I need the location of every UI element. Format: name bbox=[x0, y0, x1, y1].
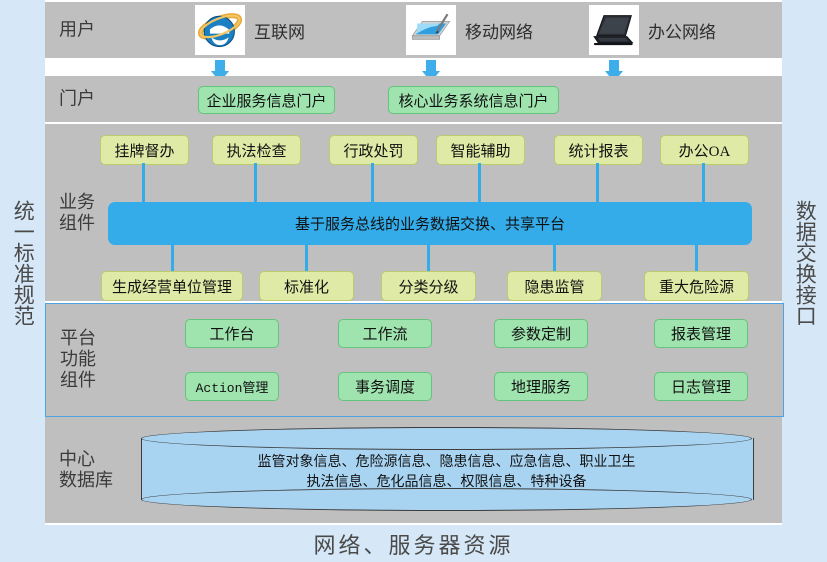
user-channel-mobile-label: 移动网络 bbox=[465, 18, 533, 43]
layer-central-database: 中心 数据库 监管对象信息、危险源信息、隐患信息、应急信息、职业卫生 执法信息、… bbox=[45, 417, 782, 523]
diagram-main-column: 用户 互联网 bbox=[45, 0, 782, 525]
connector-bottom-2 bbox=[305, 245, 308, 271]
platform-component-label: 工作流 bbox=[362, 323, 407, 344]
sidebar-unified-standard: 统一标准规范 bbox=[0, 0, 45, 525]
portal-enterprise-service[interactable]: 企业服务信息门户 bbox=[198, 86, 335, 114]
biz-component-label: 分类分级 bbox=[398, 276, 458, 297]
biz-component-label: 统计报表 bbox=[568, 140, 628, 161]
laptop-icon bbox=[589, 5, 639, 55]
biz-component-label: 办公OA bbox=[679, 140, 731, 161]
platform-component-geographic-service[interactable]: 地理服务 bbox=[494, 372, 588, 401]
layer-platform-label: 平台 功能 组件 bbox=[60, 328, 96, 392]
biz-component-label: 智能辅助 bbox=[450, 140, 510, 161]
biz-component-oa[interactable]: 办公OA bbox=[660, 135, 749, 165]
platform-component-action-management[interactable]: Action管理 bbox=[185, 372, 279, 401]
connector-bottom-1 bbox=[171, 245, 174, 271]
connector-top-5 bbox=[596, 163, 599, 202]
user-channel-internet-label: 互联网 bbox=[254, 18, 305, 43]
database-cylinder[interactable]: 监管对象信息、危险源信息、隐患信息、应急信息、职业卫生 执法信息、危化品信息、权… bbox=[141, 427, 752, 511]
biz-component-fenleifenji[interactable]: 分类分级 bbox=[381, 271, 476, 301]
platform-component-parameter-customization[interactable]: 参数定制 bbox=[494, 319, 588, 348]
service-bus-platform[interactable]: 基于服务总线的业务数据交换、共享平台 bbox=[108, 202, 752, 245]
layer-business-components: 业务 组件 挂牌督办 执法检查 行政处罚 智能辅助 统计报表 办公OA bbox=[45, 124, 782, 301]
portal-enterprise-service-label: 企业服务信息门户 bbox=[206, 90, 326, 111]
biz-component-label: 隐患监管 bbox=[524, 276, 584, 297]
service-bus-label: 基于服务总线的业务数据交换、共享平台 bbox=[295, 213, 565, 234]
infrastructure-label: 网络、服务器资源 bbox=[313, 528, 513, 560]
internet-explorer-icon bbox=[195, 5, 245, 55]
platform-component-transaction-scheduling[interactable]: 事务调度 bbox=[338, 372, 432, 401]
connector-top-6 bbox=[702, 163, 705, 202]
connector-bottom-4 bbox=[553, 245, 556, 271]
connector-bottom-3 bbox=[427, 245, 430, 271]
biz-component-biaozhunhua[interactable]: 标准化 bbox=[259, 271, 354, 301]
layer-portal: 门户 企业服务信息门户 核心业务系统信息门户 bbox=[45, 76, 782, 122]
connector-top-2 bbox=[254, 163, 257, 202]
biz-component-zhongdaweixianyuan[interactable]: 重大危险源 bbox=[644, 271, 749, 301]
platform-component-label: 地理服务 bbox=[511, 376, 571, 397]
biz-component-label: 标准化 bbox=[284, 276, 329, 297]
platform-component-label: 参数定制 bbox=[511, 323, 571, 344]
platform-component-report-management[interactable]: 报表管理 bbox=[654, 319, 748, 348]
platform-component-workbench[interactable]: 工作台 bbox=[185, 319, 279, 348]
architecture-diagram: 统一标准规范 数据交换接口 网络、服务器资源 用户 bbox=[0, 0, 827, 562]
platform-component-label: 工作台 bbox=[209, 323, 254, 344]
platform-component-log-management[interactable]: 日志管理 bbox=[654, 372, 748, 401]
layer-business-label: 业务 组件 bbox=[59, 191, 95, 233]
biz-component-label: 挂牌督办 bbox=[114, 140, 174, 161]
biz-component-label: 生成经营单位管理 bbox=[112, 276, 232, 297]
layer-platform-components: 平台 功能 组件 工作台 工作流 参数定制 报表管理 Action管理 事务调度… bbox=[45, 303, 784, 417]
layer-portal-label: 门户 bbox=[59, 88, 95, 109]
biz-component-zhinengfuzhu[interactable]: 智能辅助 bbox=[436, 135, 525, 165]
user-channel-office-label: 办公网络 bbox=[648, 18, 716, 43]
cylinder-top-ellipse bbox=[141, 427, 752, 450]
platform-component-workflow[interactable]: 工作流 bbox=[338, 319, 432, 348]
biz-component-xingzhengchufa[interactable]: 行政处罚 bbox=[329, 135, 418, 165]
infrastructure-bar: 网络、服务器资源 bbox=[0, 525, 827, 562]
biz-component-label: 行政处罚 bbox=[343, 140, 403, 161]
sidebar-left-label: 统一标准规范 bbox=[10, 200, 36, 326]
biz-component-zhifajiancha[interactable]: 执法检查 bbox=[212, 135, 301, 165]
biz-component-yinhuanjianguan[interactable]: 隐患监管 bbox=[507, 271, 602, 301]
connector-bottom-5 bbox=[695, 245, 698, 271]
platform-component-label: 报表管理 bbox=[671, 323, 731, 344]
portal-core-business[interactable]: 核心业务系统信息门户 bbox=[388, 86, 559, 114]
layer-users-label: 用户 bbox=[59, 19, 95, 40]
sidebar-right-label: 数据交换接口 bbox=[792, 200, 818, 326]
tablet-stylus-icon bbox=[406, 5, 456, 55]
platform-component-label: 日志管理 bbox=[671, 376, 731, 397]
biz-component-tongjibaobiao[interactable]: 统计报表 bbox=[554, 135, 643, 165]
biz-component-label: 重大危险源 bbox=[659, 276, 734, 297]
connector-top-4 bbox=[478, 163, 481, 202]
user-channel-mobile[interactable]: 移动网络 bbox=[406, 5, 533, 55]
sidebar-data-exchange-interface: 数据交换接口 bbox=[782, 0, 827, 525]
platform-component-label: Action管理 bbox=[196, 377, 269, 396]
portal-core-business-label: 核心业务系统信息门户 bbox=[398, 90, 548, 111]
biz-component-guapaiduban[interactable]: 挂牌督办 bbox=[100, 135, 189, 165]
connector-top-3 bbox=[371, 163, 374, 202]
biz-component-shengchanjingying[interactable]: 生成经营单位管理 bbox=[101, 271, 243, 301]
layer-users: 用户 互联网 bbox=[45, 2, 782, 58]
biz-component-label: 执法检查 bbox=[226, 140, 286, 161]
platform-component-label: 事务调度 bbox=[355, 376, 415, 397]
connector-top-1 bbox=[142, 163, 145, 202]
user-channel-office[interactable]: 办公网络 bbox=[589, 5, 716, 55]
user-channel-internet[interactable]: 互联网 bbox=[195, 5, 305, 55]
database-content-text: 监管对象信息、危险源信息、隐患信息、应急信息、职业卫生 执法信息、危化品信息、权… bbox=[141, 453, 752, 494]
layer-database-label: 中心 数据库 bbox=[59, 449, 113, 491]
